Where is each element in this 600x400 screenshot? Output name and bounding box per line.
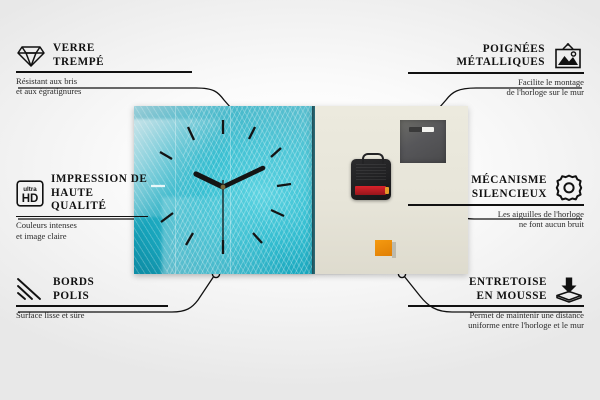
ultra-hd-icon-main-text: HD bbox=[22, 193, 39, 205]
feature-subtitle: Facilite le montage de l'horloge sur le … bbox=[408, 77, 584, 98]
minute-hand bbox=[223, 168, 263, 187]
panel-edge bbox=[312, 106, 315, 274]
feature-verre-trempe: VERRE TREMPÉ Résistant aux bris et aux é… bbox=[16, 42, 192, 96]
feature-header: ultra HD IMPRESSION DE HAUTE QUALITÉ bbox=[16, 173, 148, 214]
foam-spacer-icon bbox=[554, 276, 584, 303]
feature-title: MÉCANISME SILENCIEUX bbox=[471, 174, 547, 201]
infographic-canvas: VERRE TREMPÉ Résistant aux bris et aux é… bbox=[0, 0, 600, 400]
clock-front-panel bbox=[134, 106, 312, 274]
feature-title: BORDS POLIS bbox=[53, 276, 94, 303]
feature-entretoise-en-mousse: ENTRETOISE EN MOUSSE Permet de maintenir… bbox=[408, 276, 584, 330]
clock-mechanism-box bbox=[351, 159, 391, 200]
feature-header: POIGNÉES MÉTALLIQUES bbox=[408, 42, 584, 70]
feature-title: POIGNÉES MÉTALLIQUES bbox=[456, 43, 545, 70]
feature-rule bbox=[408, 72, 584, 74]
diamond-icon bbox=[16, 43, 46, 69]
feature-rule bbox=[408, 204, 584, 206]
battery-tip bbox=[385, 187, 389, 194]
metal-hanger-plate bbox=[400, 120, 446, 163]
feature-header: VERRE TREMPÉ bbox=[16, 42, 192, 69]
clock-dial bbox=[134, 106, 312, 274]
feature-title: VERRE TREMPÉ bbox=[53, 42, 104, 69]
feature-mecanisme-silencieux: MÉCANISME SILENCIEUX Les aiguilles de l'… bbox=[408, 173, 584, 229]
clock-hands bbox=[196, 168, 263, 240]
clock-center-cap bbox=[221, 185, 226, 190]
gear-icon bbox=[554, 173, 584, 202]
feature-title: ENTRETOISE EN MOUSSE bbox=[469, 276, 547, 303]
feature-rule bbox=[408, 305, 584, 307]
feature-rule bbox=[16, 71, 192, 73]
feature-subtitle: Résistant aux bris et aux égratignures bbox=[16, 76, 192, 97]
feature-impression-haute-qualite: ultra HD IMPRESSION DE HAUTE QUALITÉ Cou… bbox=[16, 173, 148, 241]
mechanism-grill bbox=[356, 164, 386, 181]
feature-subtitle: Les aiguilles de l'horloge ne font aucun… bbox=[408, 209, 584, 230]
feature-rule bbox=[16, 216, 148, 218]
feature-subtitle: Permet de maintenir une distance uniform… bbox=[408, 310, 584, 331]
feature-poignees-metalliques: POIGNÉES MÉTALLIQUES Facilite le montage… bbox=[408, 42, 584, 97]
ultra-hd-icon-top-text: ultra bbox=[23, 186, 37, 193]
polished-edge-icon bbox=[16, 277, 46, 302]
feature-header: BORDS POLIS bbox=[16, 276, 168, 303]
feature-title: IMPRESSION DE HAUTE QUALITÉ bbox=[51, 173, 148, 214]
feature-bords-polis: BORDS POLIS Surface lisse et sûre bbox=[16, 276, 168, 320]
hanger-slot bbox=[409, 127, 434, 132]
foam-spacer-side bbox=[392, 242, 396, 258]
battery bbox=[355, 186, 386, 195]
picture-hanger-icon bbox=[552, 42, 584, 70]
mechanism-hook bbox=[362, 153, 384, 164]
hour-hand bbox=[196, 174, 223, 187]
feature-subtitle: Surface lisse et sûre bbox=[16, 310, 168, 320]
foam-spacer bbox=[375, 240, 392, 256]
feature-header: MÉCANISME SILENCIEUX bbox=[408, 173, 584, 202]
feature-subtitle: Couleurs intenses et image claire bbox=[16, 220, 148, 241]
feature-header: ENTRETOISE EN MOUSSE bbox=[408, 276, 584, 303]
ultra-hd-icon: ultra HD bbox=[16, 180, 44, 207]
feature-rule bbox=[16, 305, 168, 307]
